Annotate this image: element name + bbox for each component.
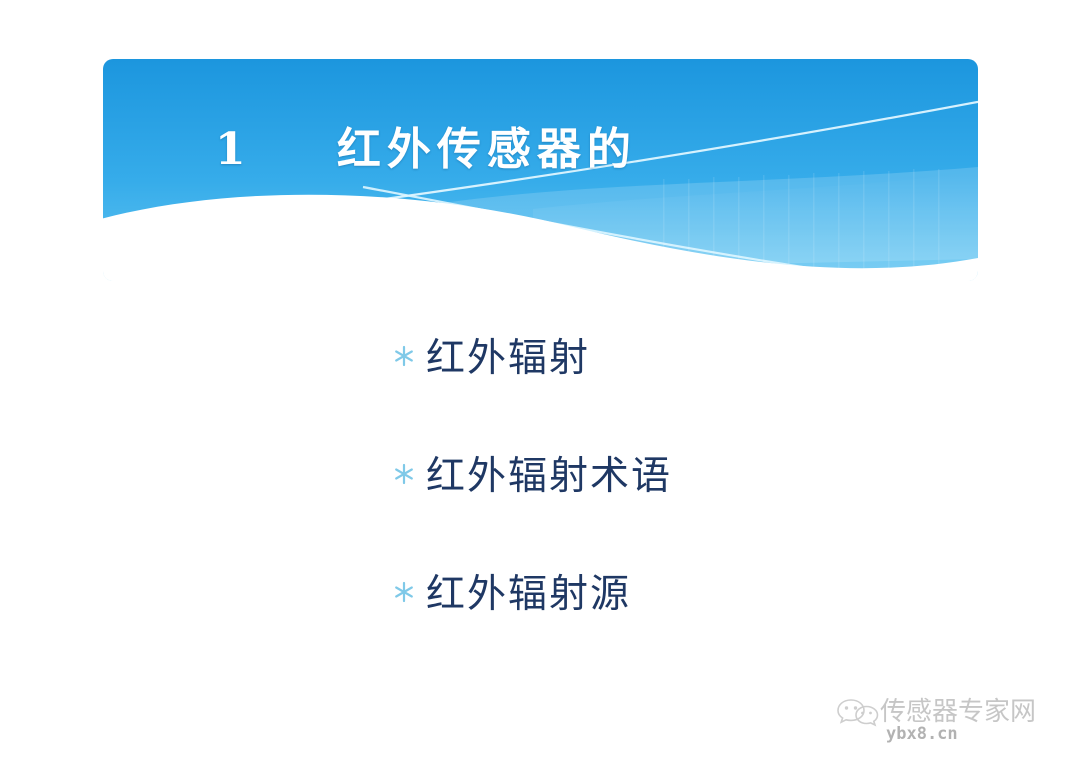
asterisk-icon [392,344,426,374]
watermark-url: ybx8.cn [886,724,958,744]
watermark: 传感器专家网 ybx8.cn [836,692,1066,754]
list-item-label: 红外辐射源 [426,574,631,617]
asterisk-icon [392,580,426,610]
bullet-list: 红外辐射 红外辐射术语 [392,300,952,654]
slide-canvas: 1 红外传感器的 红外辐射 [0,0,1080,764]
title-banner: 1 红外传感器的 [103,59,978,281]
asterisk-icon [392,462,426,492]
list-item[interactable]: 红外辐射术语 [392,418,952,536]
wechat-logo-icon [836,695,880,729]
banner-graphic [103,59,978,281]
list-item-label: 红外辐射 [426,338,590,381]
list-item-label: 红外辐射术语 [426,456,672,499]
list-item[interactable]: 红外辐射 [392,300,952,418]
list-item[interactable]: 红外辐射源 [392,536,952,654]
